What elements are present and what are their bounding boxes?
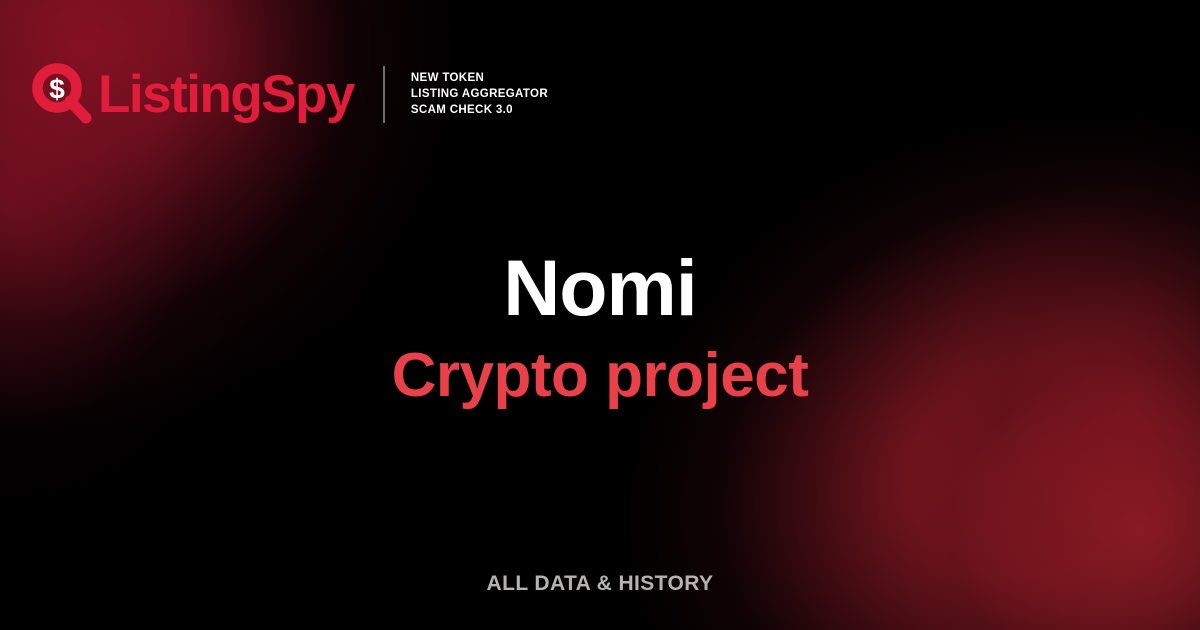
- brand-divider: [383, 66, 385, 123]
- social-share-card: $ ListingSpy NEW TOKEN LISTING AGGREGATO…: [0, 0, 1200, 630]
- page-title: Nomi: [0, 248, 1200, 327]
- brand-lockup: $ ListingSpy NEW TOKEN LISTING AGGREGATO…: [32, 52, 548, 136]
- svg-text:$: $: [49, 74, 65, 105]
- tagline-line-3: SCAM CHECK 3.0: [411, 102, 548, 118]
- footer: ALL DATA & HISTORY: [0, 572, 1200, 596]
- brand-name: ListingSpy: [98, 68, 354, 121]
- footer-strapline: ALL DATA & HISTORY: [487, 572, 714, 595]
- tagline-line-2: LISTING AGGREGATOR: [411, 86, 548, 102]
- magnifier-dollar-icon: $: [32, 63, 94, 125]
- headline-block: Nomi Crypto project: [0, 248, 1200, 407]
- brand-tagline: NEW TOKEN LISTING AGGREGATOR SCAM CHECK …: [411, 70, 548, 119]
- tagline-line-1: NEW TOKEN: [411, 70, 548, 86]
- page-subtitle: Crypto project: [0, 345, 1200, 407]
- brand-logo[interactable]: $ ListingSpy: [32, 63, 354, 125]
